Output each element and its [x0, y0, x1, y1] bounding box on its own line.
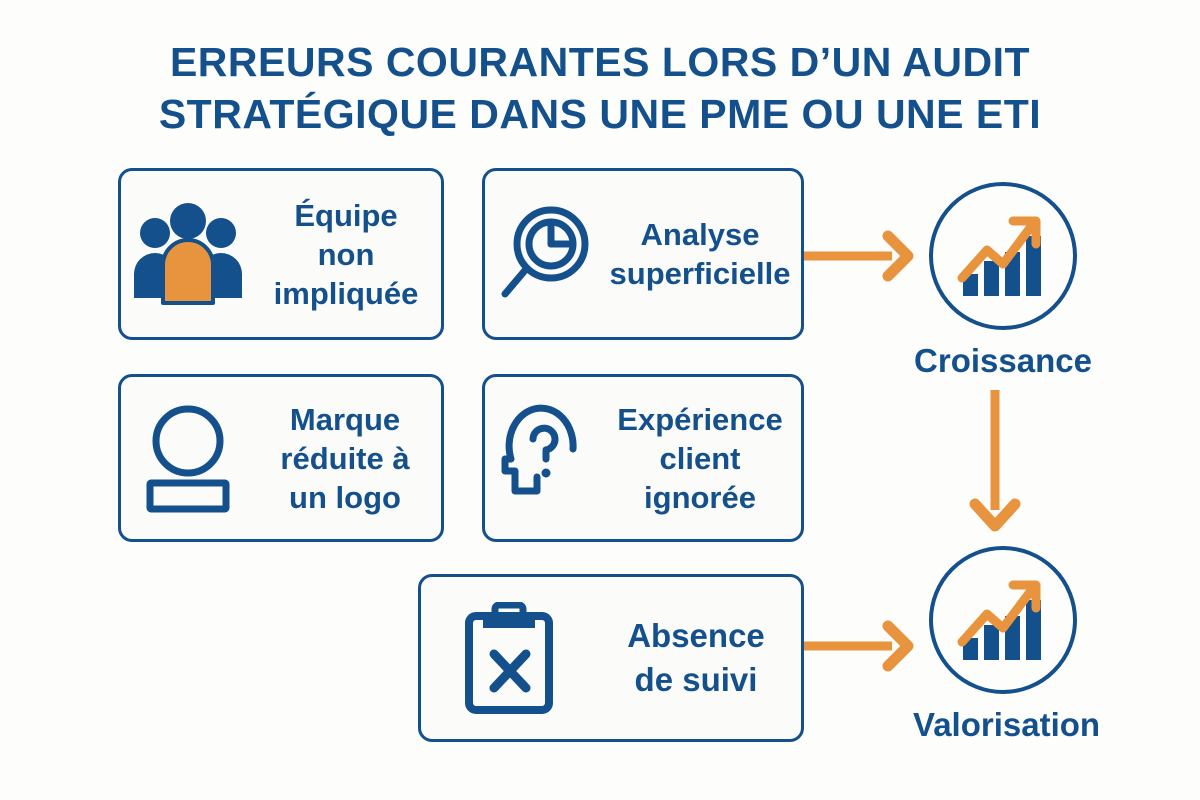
- outcome-label-croissance: Croissance: [913, 342, 1093, 380]
- card-label-marque: Marque réduite à un logo: [255, 400, 441, 517]
- card-absence-de-suivi[interactable]: Absence de suivi: [418, 574, 804, 742]
- card-label-equipe: Équipe non impliquée: [255, 196, 441, 313]
- arrow-right-icon: [800, 618, 916, 679]
- head-question-mark-icon: [485, 403, 605, 513]
- card-experience-client-ignoree[interactable]: Expérience client ignorée: [482, 374, 804, 542]
- team-group-icon: [121, 202, 255, 306]
- outcome-label-valorisation: Valorisation: [913, 706, 1093, 744]
- card-label-absence-suivi: Absence de suivi: [597, 614, 801, 702]
- card-label-analyse: Analyse superficielle: [605, 215, 801, 293]
- clipboard-cross-icon: [421, 602, 597, 714]
- logo-placeholder-icon: [121, 403, 255, 513]
- outcome-valorisation[interactable]: Valorisation: [913, 546, 1093, 744]
- page-title: ERREURS COURANTES LORS D’UN AUDIT STRATÉ…: [0, 36, 1200, 140]
- magnifier-pie-chart-icon: [485, 202, 605, 306]
- card-marque-reduite-logo[interactable]: Marque réduite à un logo: [118, 374, 444, 542]
- growth-chart-arrow-icon: [929, 182, 1077, 330]
- card-analyse-superficielle[interactable]: Analyse superficielle: [482, 168, 804, 340]
- outcome-croissance[interactable]: Croissance: [913, 182, 1093, 380]
- growth-chart-arrow-icon: [929, 546, 1077, 694]
- page-title-line-2: STRATÉGIQUE DANS UNE PME OU UNE ETI: [0, 88, 1200, 140]
- card-equipe-non-impliquee[interactable]: Équipe non impliquée: [118, 168, 444, 340]
- arrow-down-icon: [967, 386, 1023, 539]
- card-label-experience: Expérience client ignorée: [605, 400, 801, 517]
- infographic-canvas: ERREURS COURANTES LORS D’UN AUDIT STRATÉ…: [0, 0, 1200, 800]
- page-title-line-1: ERREURS COURANTES LORS D’UN AUDIT: [0, 36, 1200, 88]
- arrow-right-icon: [800, 228, 916, 289]
